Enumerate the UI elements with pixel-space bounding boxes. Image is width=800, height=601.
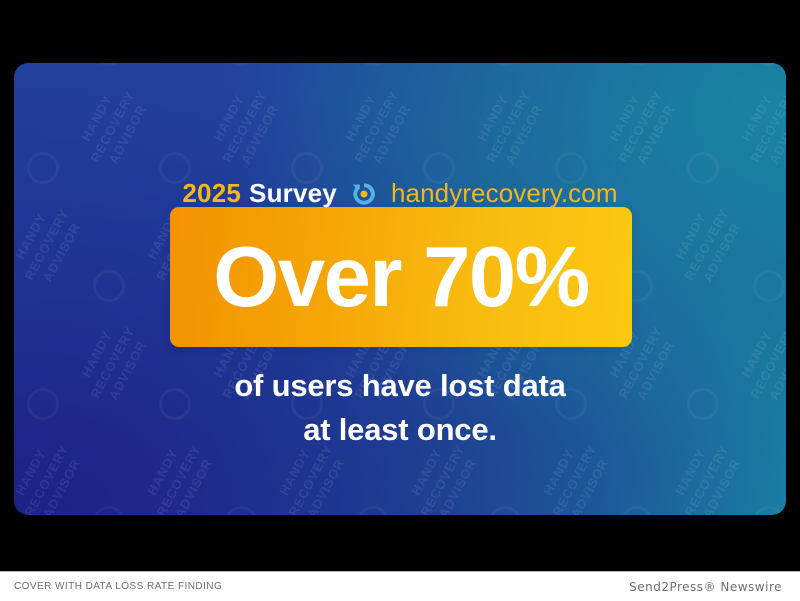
watermark-text: HANDYRECOVERYADVISOR [203,79,287,173]
watermark-logo-icon [753,63,785,66]
watermark-text: HANDYRECOVERYADVISOR [71,79,155,173]
caption-bar: COVER WITH DATA LOSS RATE FINDING Send2P… [0,571,800,601]
caption-source: Send2Press® Newswire [629,580,782,594]
subtitle-line-1: of users have lost data [14,364,786,408]
watermark-logo-icon [93,63,125,66]
watermark-logo-icon [621,506,653,515]
watermark-logo-icon [489,63,521,66]
survey-label: Survey [249,178,337,209]
site-domain: handyrecovery.com [391,178,618,209]
watermark-logo-icon [357,63,389,66]
watermark-logo-icon [225,63,257,66]
header-row: 2025 Survey handyrecovery.com [14,178,786,209]
subtitle: of users have lost data at least once. [14,364,786,452]
watermark-text: HANDYRECOVERYADVISOR [599,79,683,173]
watermark-logo-icon [753,270,785,302]
watermark-logo-icon [357,506,389,515]
caption-description: COVER WITH DATA LOSS RATE FINDING [14,581,222,592]
watermark-logo-icon [225,506,257,515]
handy-recovery-logo-icon [349,179,379,209]
watermark-text: HANDYRECOVERYADVISOR [731,79,786,173]
promo-card: HANDYRECOVERYADVISORHANDYRECOVERYADVISOR… [14,63,786,515]
watermark-text: HANDYRECOVERYADVISOR [14,197,88,291]
stat-value: Over 70% [213,235,588,320]
watermark-text: HANDYRECOVERYADVISOR [467,79,551,173]
watermark-text: HANDYRECOVERYADVISOR [335,79,419,173]
watermark-text: HANDYRECOVERYADVISOR [14,79,22,173]
watermark-logo-icon [753,506,785,515]
watermark-logo-icon [93,506,125,515]
letterbox-frame: HANDYRECOVERYADVISORHANDYRECOVERYADVISOR… [0,0,800,571]
watermark-logo-icon [621,63,653,66]
watermark-text: HANDYRECOVERYADVISOR [665,197,749,291]
survey-year: 2025 [182,178,241,209]
subtitle-line-2: at least once. [14,408,786,452]
watermark-logo-icon [93,270,125,302]
stat-banner: Over 70% [170,207,632,347]
watermark-logo-icon [489,506,521,515]
